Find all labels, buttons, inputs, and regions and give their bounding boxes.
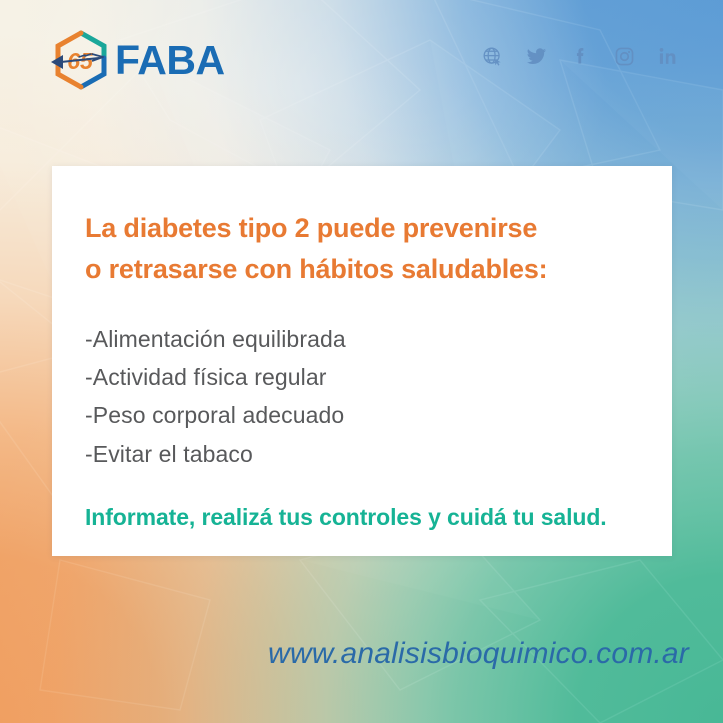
- list-item: -Actividad física regular: [85, 358, 626, 396]
- faba-hexagon-65-icon: 65: [47, 28, 115, 92]
- facebook-icon[interactable]: [569, 45, 591, 67]
- list-item: -Evitar el tabaco: [85, 435, 626, 473]
- instagram-icon[interactable]: [613, 45, 635, 67]
- social-links: [481, 45, 679, 67]
- twitter-icon[interactable]: [525, 45, 547, 67]
- headline-line-1: La diabetes tipo 2 puede prevenirse: [85, 208, 626, 249]
- page-title: La diabetes tipo 2 puede prevenirse o re…: [85, 208, 626, 290]
- list-item: -Alimentación equilibrada: [85, 320, 626, 358]
- linkedin-icon[interactable]: [657, 45, 679, 67]
- website-url[interactable]: www.analisisbioquimico.com.ar: [0, 637, 689, 671]
- faba-logo[interactable]: 65 FABA: [47, 27, 257, 93]
- headline-line-2: o retrasarse con hábitos saludables:: [85, 249, 626, 290]
- list-item: -Peso corporal adecuado: [85, 396, 626, 434]
- call-to-action-text: Informate, realizá tus controles y cuidá…: [85, 503, 626, 533]
- content-card-inner: La diabetes tipo 2 puede prevenirse o re…: [52, 166, 672, 533]
- header: 65 FABA: [0, 0, 723, 120]
- faba-wordmark: FABA: [115, 40, 225, 81]
- poster-canvas: 65 FABA: [0, 0, 723, 723]
- content-card: La diabetes tipo 2 puede prevenirse o re…: [52, 166, 672, 556]
- recommendations-list: -Alimentación equilibrada -Actividad fís…: [85, 320, 626, 473]
- website-icon[interactable]: [481, 45, 503, 67]
